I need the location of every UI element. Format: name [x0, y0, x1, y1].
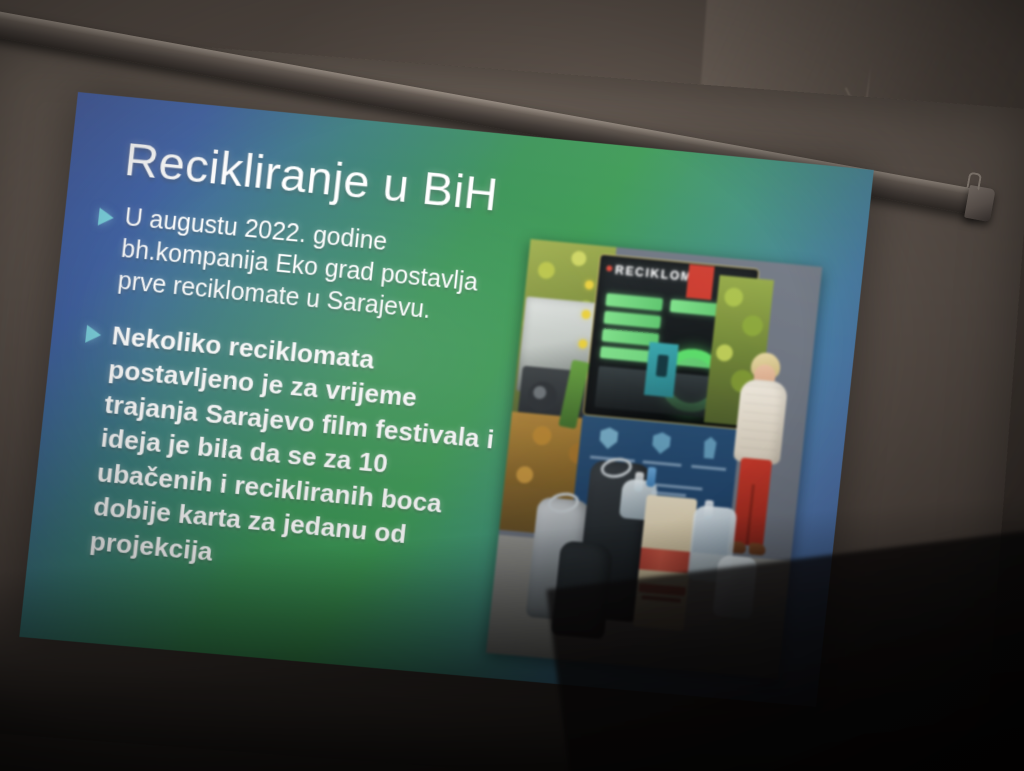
bullet-item: U augustu 2022. godine bh.kompanija Eko … — [90, 199, 524, 334]
kiosk-ui-bar — [605, 293, 663, 311]
bullet-text: U augustu 2022. godine bh.kompanija Eko … — [116, 201, 524, 334]
person-jacket — [733, 378, 788, 465]
photo-of-projection-screen: Recikliranje u BiH U augustu 2022. godin… — [0, 0, 1024, 771]
kiosk-red-accent — [686, 264, 715, 300]
shield-icon — [651, 432, 671, 455]
yellow-dot-icon — [581, 310, 591, 320]
roller-end-cap — [964, 185, 995, 222]
yellow-dot-icon — [578, 339, 588, 349]
info-caption-line — [642, 460, 681, 467]
triangle-right-icon — [98, 208, 115, 227]
yellow-dot-icon — [584, 280, 594, 290]
person-icon — [700, 436, 720, 459]
triangle-right-icon — [85, 325, 102, 344]
record-dot-icon — [606, 265, 612, 271]
shield-icon — [599, 427, 619, 450]
kiosk-ui-bar — [603, 311, 661, 329]
info-caption-line — [691, 465, 726, 471]
